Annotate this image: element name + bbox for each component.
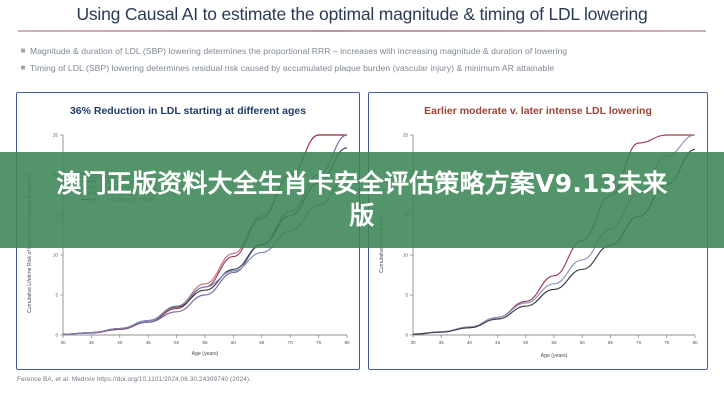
bullet-text: Magnitude & duration of LDL (SBP) loweri…: [30, 44, 567, 58]
svg-text:80: 80: [692, 340, 698, 345]
svg-text:60: 60: [231, 340, 237, 345]
title-divider: [18, 30, 706, 32]
chart-title-left: 36% Reduction in LDL starting at differe…: [17, 105, 359, 117]
svg-text:35: 35: [439, 340, 445, 345]
slide-root: Using Causal AI to estimate the optimal …: [0, 0, 724, 400]
svg-text:10: 10: [53, 253, 59, 258]
svg-text:75: 75: [664, 340, 670, 345]
svg-text:5: 5: [55, 293, 58, 298]
svg-text:50: 50: [174, 340, 180, 345]
svg-text:55: 55: [551, 340, 557, 345]
svg-text:55: 55: [202, 340, 208, 345]
bullet-dot-icon: ■: [16, 44, 30, 58]
x-axis-label-right: Age (years): [541, 353, 568, 359]
citation-text: Ference BA, et al. Medrxiv https://doi.o…: [17, 376, 251, 383]
svg-text:0: 0: [405, 333, 408, 338]
svg-text:60: 60: [580, 340, 586, 345]
list-item: ■ Timing of LDL (SBP) lowering determine…: [16, 61, 716, 75]
x-ticks-left: 3035404550556065707580: [60, 335, 350, 345]
svg-text:25: 25: [403, 133, 409, 138]
svg-text:30: 30: [60, 340, 66, 345]
svg-text:80: 80: [344, 340, 350, 345]
svg-text:40: 40: [117, 340, 123, 345]
svg-text:10: 10: [403, 253, 409, 258]
watermark-banner: 澳门正版资料大全生肖卡安全评估策略方案V9.13未来版: [0, 152, 724, 248]
svg-text:50: 50: [523, 340, 529, 345]
x-axis-label-left: Age (years): [192, 351, 219, 357]
list-item: ■ Magnitude & duration of LDL (SBP) lowe…: [16, 44, 716, 58]
svg-text:75: 75: [316, 340, 322, 345]
svg-text:0: 0: [55, 333, 58, 338]
page-title: Using Causal AI to estimate the optimal …: [0, 4, 724, 25]
svg-text:45: 45: [495, 340, 501, 345]
bullet-text: Timing of LDL (SBP) lowering determines …: [30, 61, 554, 75]
bullet-list: ■ Magnitude & duration of LDL (SBP) lowe…: [16, 44, 716, 78]
svg-text:65: 65: [259, 340, 265, 345]
bullet-dot-icon: ■: [16, 61, 30, 75]
svg-text:5: 5: [405, 293, 408, 298]
svg-text:40: 40: [467, 340, 473, 345]
svg-text:70: 70: [288, 340, 294, 345]
svg-text:30: 30: [410, 340, 416, 345]
svg-text:45: 45: [146, 340, 152, 345]
watermark-text: 澳门正版资料大全生肖卡安全评估策略方案V9.13未来版: [56, 168, 668, 232]
svg-text:70: 70: [636, 340, 642, 345]
svg-text:25: 25: [53, 133, 59, 138]
x-ticks-right: 3035404550556065707580: [410, 335, 698, 345]
svg-text:35: 35: [89, 340, 95, 345]
svg-text:65: 65: [608, 340, 614, 345]
chart-title-right: Earlier moderate v. later intense LDL lo…: [369, 105, 707, 117]
